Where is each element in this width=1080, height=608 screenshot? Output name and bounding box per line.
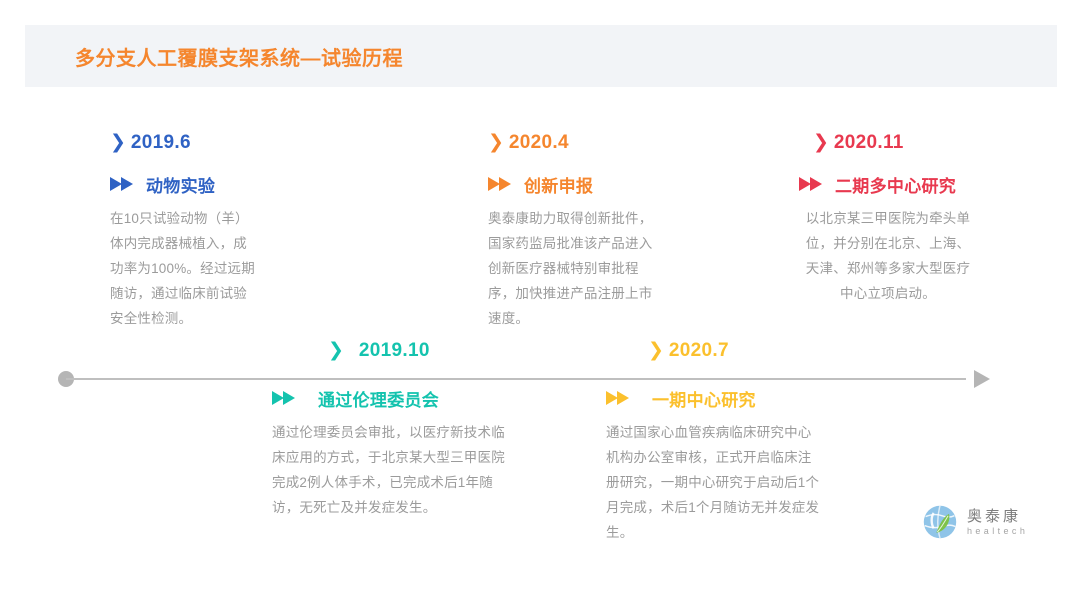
milestone-heading: 一期中心研究 (652, 386, 756, 411)
milestone-date-row: ❯ 2020.4 (488, 132, 666, 154)
milestone-heading: 通过伦理委员会 (318, 386, 439, 411)
milestone-heading: 动物实验 (146, 172, 215, 197)
chevron-right-icon: ❯ (110, 133, 126, 152)
chevron-right-icon: ❯ (813, 133, 829, 152)
page-header-banner: 多分支人工覆膜支架系统—试验历程 (25, 25, 1057, 87)
milestone-body: 通过伦理委员会审批，以医疗新技术临床应用的方式，于北京某大型三甲医院完成2例人体… (272, 420, 517, 520)
milestone-body: 通过国家心血管疾病临床研究中心机构办公室审核，正式开启临床注册研究，一期中心研究… (606, 420, 821, 545)
milestone-date: 2019.10 (359, 340, 430, 362)
timeline-milestone-2020-11[interactable]: ❯ 2020.11 二期多中心研究 以北京某三甲医院为牵头单位，并分别在北京、上… (785, 132, 970, 306)
timeline-milestone-2019-10[interactable]: ❯ 2019.10 通过伦理委员会 通过伦理委员会审批，以医疗新技术临床应用的方… (320, 340, 565, 520)
chevron-right-icon: ❯ (488, 133, 504, 152)
milestone-date-row: ❯ 2020.11 (813, 132, 970, 154)
logo-name-cn: 奥泰康 (967, 508, 1028, 525)
milestone-heading-row: 二期多中心研究 (799, 172, 970, 197)
logo-name-en: healtech (967, 525, 1028, 537)
timeline-milestone-2020-07[interactable]: ❯ 2020.7 一期中心研究 通过国家心血管疾病临床研究中心机构办公室审核，正… (648, 340, 863, 545)
milestone-heading: 二期多中心研究 (835, 172, 956, 197)
fast-forward-icon (799, 177, 823, 192)
fast-forward-icon (272, 391, 296, 406)
milestone-date-row: ❯ 2020.7 (648, 340, 863, 362)
page-title: 多分支人工覆膜支架系统—试验历程 (75, 42, 403, 71)
fast-forward-icon (488, 177, 512, 192)
fast-forward-icon (110, 177, 134, 192)
timeline-milestone-2020-04[interactable]: ❯ 2020.4 创新申报 奥泰康助力取得创新批件，国家药监局批准该产品进入创新… (488, 132, 666, 331)
milestone-date-row: ❯ 2019.6 (110, 132, 265, 154)
timeline-end-arrow-icon (974, 370, 990, 388)
globe-leaf-logo-icon (922, 504, 958, 540)
milestone-heading: 创新申报 (524, 172, 593, 197)
timeline-milestone-2019-06[interactable]: ❯ 2019.6 动物实验 在10只试验动物（羊）体内完成器械植入，成功率为10… (110, 132, 265, 331)
milestone-body: 奥泰康助力取得创新批件，国家药监局批准该产品进入创新医疗器械特别审批程序，加快推… (488, 206, 666, 331)
milestone-heading-row: 一期中心研究 (606, 386, 863, 411)
milestone-date: 2020.11 (834, 132, 904, 154)
fast-forward-icon (606, 391, 630, 406)
milestone-heading-row: 动物实验 (110, 172, 265, 197)
chevron-right-icon: ❯ (328, 341, 344, 360)
milestone-date: 2019.6 (131, 132, 191, 154)
logo-wordmark: 奥泰康 healtech (967, 508, 1028, 537)
milestone-date-row: ❯ 2019.10 (328, 340, 565, 362)
milestone-date: 2020.7 (669, 340, 729, 362)
milestone-body: 在10只试验动物（羊）体内完成器械植入，成功率为100%。经过远期随访，通过临床… (110, 206, 260, 331)
milestone-body: 以北京某三甲医院为牵头单位，并分别在北京、上海、天津、郑州等多家大型医疗中心立项… (799, 206, 977, 306)
chevron-right-icon: ❯ (648, 341, 664, 360)
milestone-heading-row: 通过伦理委员会 (272, 386, 565, 411)
milestone-heading-row: 创新申报 (488, 172, 666, 197)
company-logo: 奥泰康 healtech (922, 504, 1028, 540)
milestone-date: 2020.4 (509, 132, 569, 154)
